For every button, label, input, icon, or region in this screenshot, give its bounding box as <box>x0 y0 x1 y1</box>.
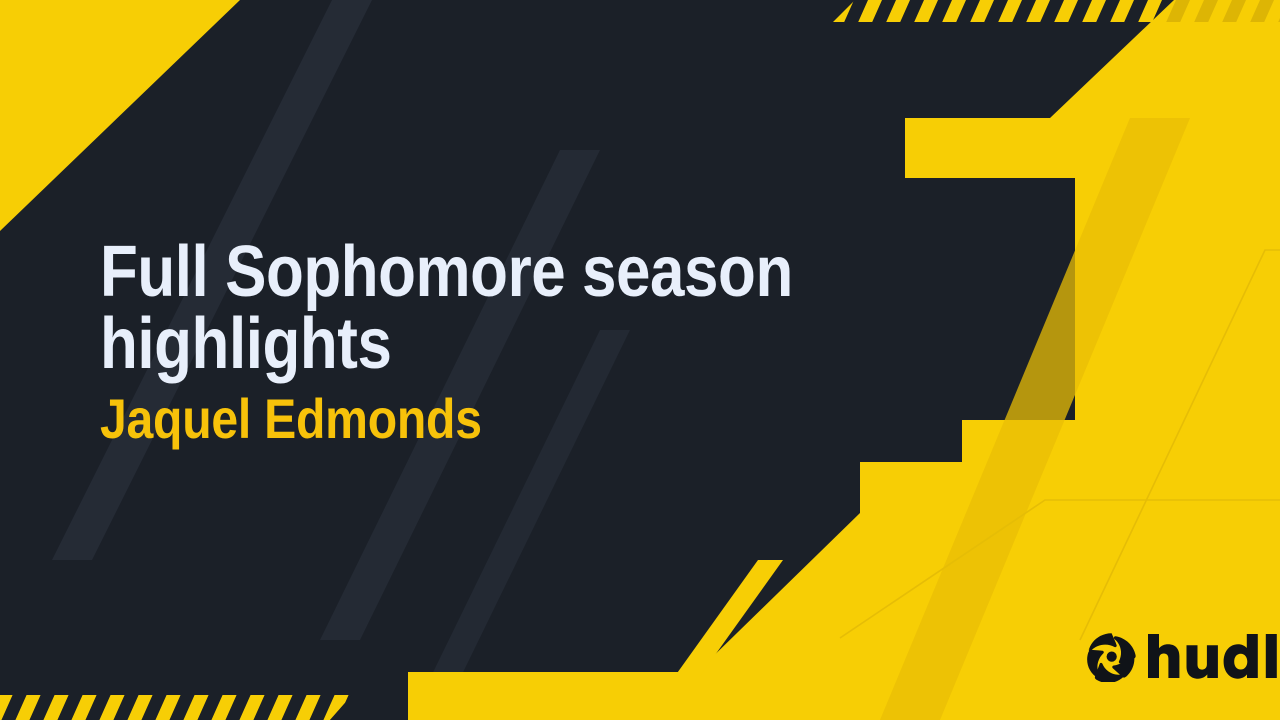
title-card-stage: Full Sophomore season highlights Jaquel … <box>0 0 1280 720</box>
background-artwork <box>0 0 1280 720</box>
